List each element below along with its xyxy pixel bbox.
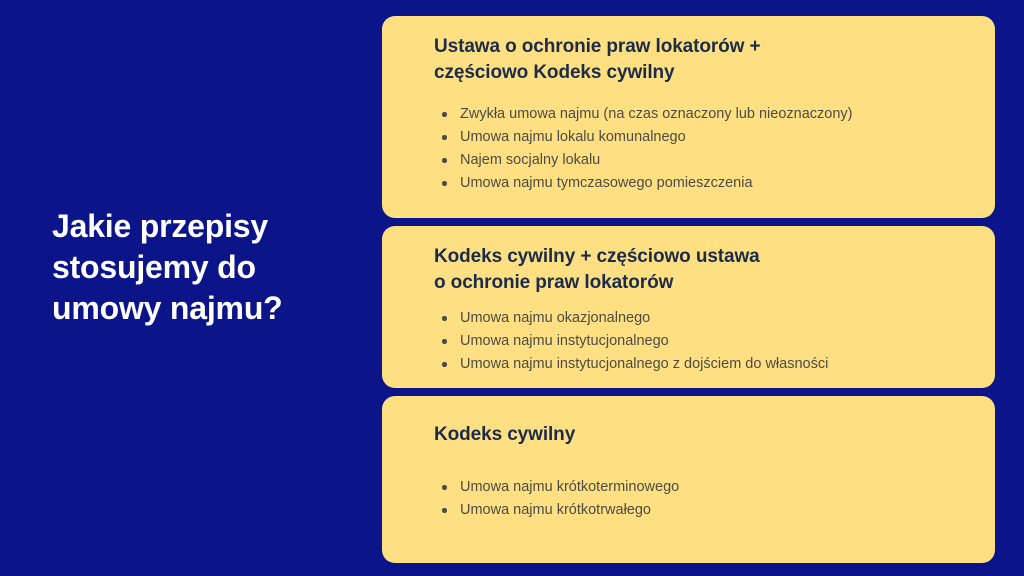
slide-root: Jakie przepisy stosujemy do umowy najmu?… [0,0,1024,576]
card-ustawa-o-ochronie: Ustawa o ochronie praw lokatorów + częśc… [382,16,995,218]
bullet-dot-icon [442,158,447,163]
list-item: Umowa najmu lokalu komunalnego [434,126,969,149]
card-kodeks-cywilny: Kodeks cywilny Umowa najmu krótkotermino… [382,396,995,563]
card-2-bullet-list: Umowa najmu okazjonalnego Umowa najmu in… [434,307,969,376]
list-item-label: Zwykła umowa najmu (na czas oznaczony lu… [460,106,853,122]
card-2-heading-line-2: o ochronie praw lokatorów [434,270,969,296]
bullet-dot-icon [442,316,447,321]
list-item: Umowa najmu krótkoterminowego [434,476,969,499]
card-1-heading: Ustawa o ochronie praw lokatorów + częśc… [434,34,969,86]
list-item-label: Najem socjalny lokalu [460,152,600,168]
slide-title-pane: Jakie przepisy stosujemy do umowy najmu? [52,206,362,329]
list-item: Umowa najmu krótkotrwałego [434,499,969,522]
page-title: Jakie przepisy stosujemy do umowy najmu? [52,206,362,329]
card-list: Ustawa o ochronie praw lokatorów + częśc… [382,16,995,563]
bullet-dot-icon [442,135,447,140]
list-item-label: Umowa najmu krótkotrwałego [460,502,651,518]
bullet-dot-icon [442,362,447,367]
card-3-bullet-list: Umowa najmu krótkoterminowego Umowa najm… [434,476,969,522]
card-kodeks-cywilny-czesciowo-ustawa: Kodeks cywilny + częściowo ustawa o ochr… [382,226,995,388]
bullet-dot-icon [442,485,447,490]
list-item: Najem socjalny lokalu [434,149,969,172]
card-2-heading-line-1: Kodeks cywilny + częściowo ustawa [434,244,969,270]
list-item-label: Umowa najmu instytucjonalnego [460,333,669,349]
card-1-bullet-list: Zwykła umowa najmu (na czas oznaczony lu… [434,103,969,195]
card-3-heading-line-1: Kodeks cywilny [434,422,969,448]
card-1-heading-line-2: częściowo Kodeks cywilny [434,60,969,86]
bullet-dot-icon [442,181,447,186]
card-1-heading-line-1: Ustawa o ochronie praw lokatorów + [434,34,969,60]
list-item: Umowa najmu instytucjonalnego [434,330,969,353]
list-item: Umowa najmu okazjonalnego [434,307,969,330]
list-item: Umowa najmu tymczasowego pomieszczenia [434,172,969,195]
bullet-dot-icon [442,112,447,117]
card-3-heading: Kodeks cywilny [434,422,969,448]
bullet-dot-icon [442,508,447,513]
list-item-label: Umowa najmu krótkoterminowego [460,479,679,495]
card-2-heading: Kodeks cywilny + częściowo ustawa o ochr… [434,244,969,296]
page-title-line-2: stosujemy do [52,247,362,288]
list-item-label: Umowa najmu okazjonalnego [460,310,650,326]
list-item-label: Umowa najmu lokalu komunalnego [460,129,686,145]
list-item: Zwykła umowa najmu (na czas oznaczony lu… [434,103,969,126]
list-item: Umowa najmu instytucjonalnego z dojściem… [434,353,969,376]
bullet-dot-icon [442,339,447,344]
page-title-line-1: Jakie przepisy [52,206,362,247]
page-title-line-3: umowy najmu? [52,288,362,329]
list-item-label: Umowa najmu instytucjonalnego z dojściem… [460,356,828,372]
list-item-label: Umowa najmu tymczasowego pomieszczenia [460,175,753,191]
